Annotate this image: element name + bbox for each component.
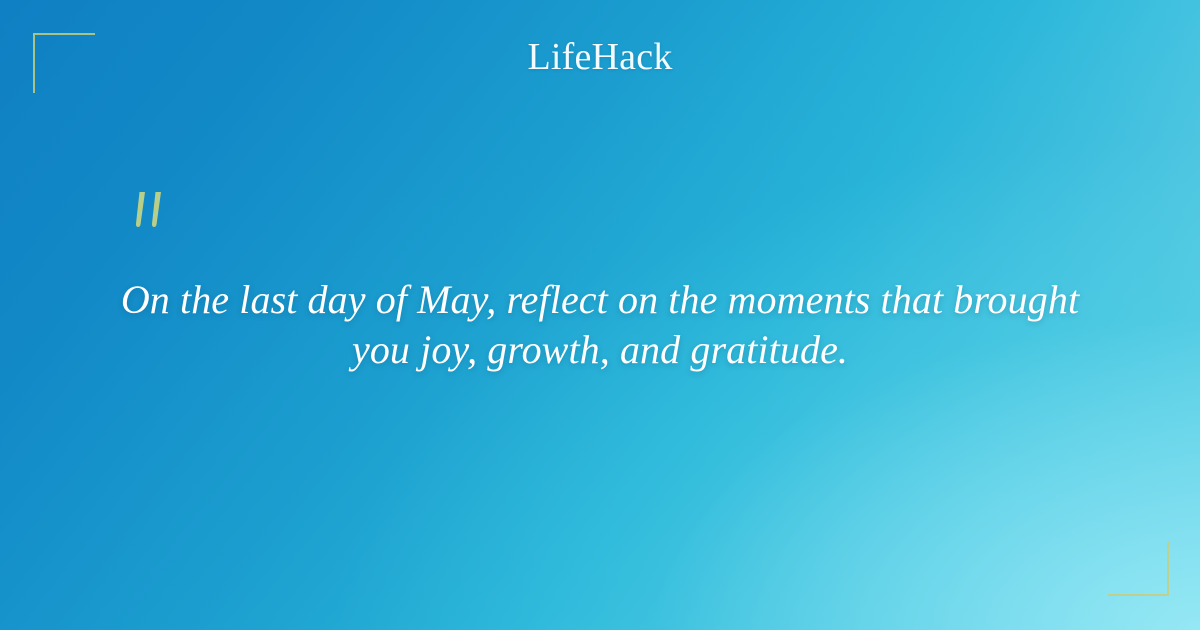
brand-logo: LifeHack	[0, 38, 1200, 76]
quotation-mark-icon	[128, 190, 174, 244]
corner-bracket-bottom-right-icon	[1108, 542, 1169, 596]
quote-card: LifeHack On the last day of May, reflect…	[0, 0, 1200, 630]
quote-text: On the last day of May, reflect on the m…	[90, 275, 1110, 375]
